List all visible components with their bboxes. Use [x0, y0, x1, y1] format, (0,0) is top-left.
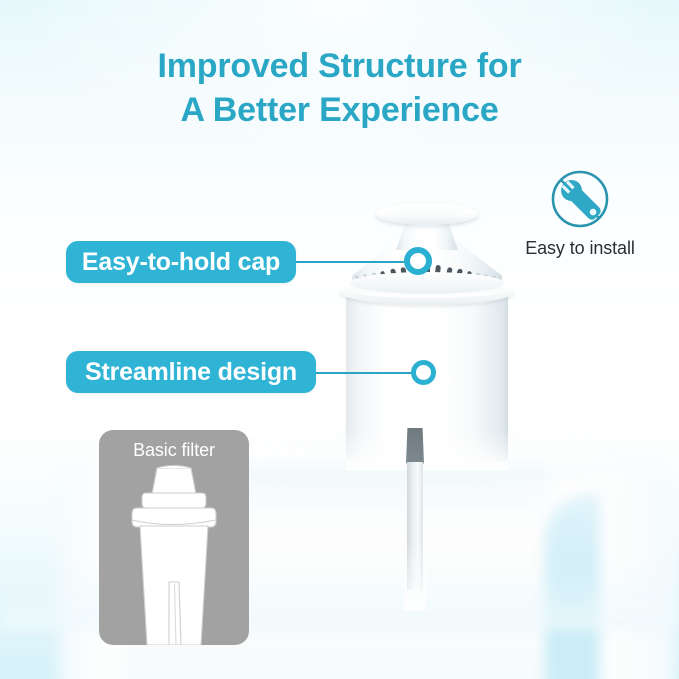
infographic-canvas: Improved Structure for A Better Experien… — [0, 0, 679, 679]
callout-badge-easy-to-hold-cap[interactable]: Easy-to-hold cap — [66, 241, 296, 283]
callout-ring-marker-streamline — [411, 360, 436, 385]
basic-filter-line-art — [99, 462, 249, 645]
filter-groove-recess — [406, 428, 424, 464]
filter-top-disc-highlight — [386, 205, 466, 216]
filter-body-fade — [346, 430, 508, 470]
callout-connector-line-streamline — [314, 372, 418, 374]
basic-filter-inset: Basic filter — [99, 430, 249, 645]
callout-ring-marker-cap — [404, 247, 432, 275]
callout-badge-streamline-design[interactable]: Streamline design — [66, 351, 316, 393]
callout-connector-line-cap — [294, 261, 412, 263]
feature-easy-to-install: Easy to install — [505, 168, 655, 259]
no-tools-wrench-icon — [549, 168, 611, 230]
filter-groove-fade — [404, 540, 426, 610]
filter-cone-base-ellipse — [350, 272, 504, 294]
inset-title: Basic filter — [99, 440, 249, 461]
feature-label: Easy to install — [505, 238, 655, 259]
